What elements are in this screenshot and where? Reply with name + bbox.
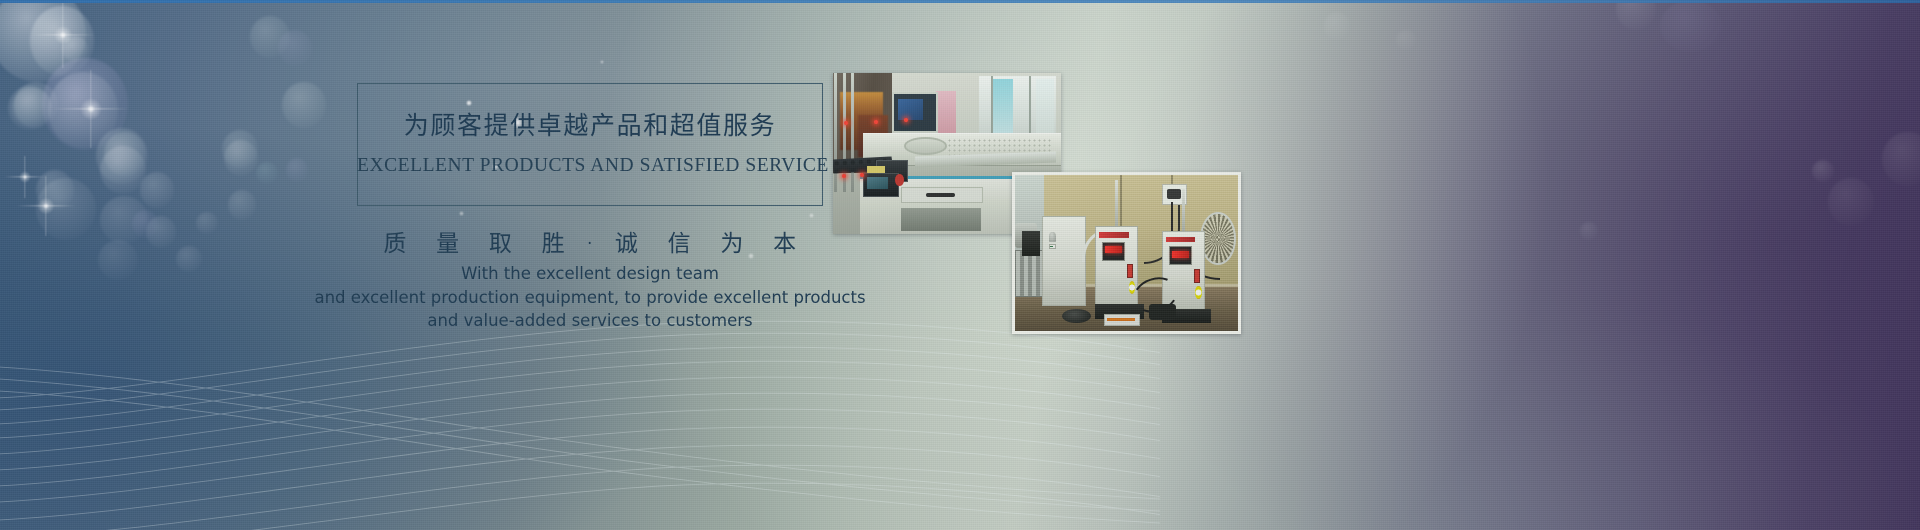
- slogan-word: 本: [773, 231, 797, 257]
- slogan-word: 诚: [615, 231, 639, 257]
- slogan-separator: ·: [587, 234, 593, 254]
- slogan-word: 胜: [542, 231, 566, 257]
- photo-pneumatic-presses: [1012, 172, 1241, 334]
- headline-frame-border: [357, 83, 823, 206]
- description-line: and value-added services to customers: [305, 309, 875, 333]
- slogan-word: 质: [383, 231, 407, 257]
- page-title: 为顾客提供卓越产品和超值服务: [357, 106, 823, 142]
- slogan-word: 信: [668, 231, 692, 257]
- slogan-word: 为: [720, 231, 744, 257]
- top-accent-rule: [0, 0, 1920, 3]
- company-slogan: 质 量 取 胜 · 诚 信 为 本: [357, 224, 823, 258]
- slogan-word: 取: [489, 231, 513, 257]
- slogan-word: 量: [436, 231, 460, 257]
- page-subtitle: EXCELLENT PRODUCTS AND SATISFIED SERVICE: [357, 155, 823, 177]
- description-paragraph: With the excellent design team and excel…: [305, 262, 875, 333]
- description-line: and excellent production equipment, to p…: [305, 286, 875, 310]
- description-line: With the excellent design team: [305, 262, 875, 286]
- company-promo-banner: 为顾客提供卓越产品和超值服务 EXCELLENT PRODUCTS AND SA…: [0, 0, 1920, 530]
